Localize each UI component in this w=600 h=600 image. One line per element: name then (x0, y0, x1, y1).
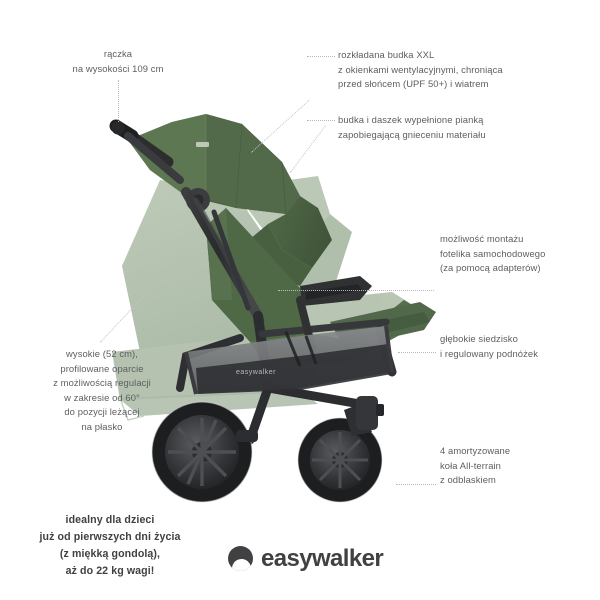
leader-line-foam (307, 120, 335, 122)
leader-line-seat (398, 352, 436, 354)
leader-line-handle (118, 80, 120, 122)
annotation-wheels: 4 amortyzowane koła All-terrain z odblas… (440, 444, 600, 488)
claim-text: idealny dla dzieci już od pierwszych dni… (10, 512, 210, 581)
easywalker-circle-icon (228, 546, 253, 571)
annotation-car-seat-adapter: możliwość montażu fotelika samochodowego… (440, 232, 600, 276)
rear-axle (236, 430, 258, 442)
leader-line-carseat (278, 290, 434, 292)
annotation-canopy-xxl: rozkładana budka XXL z okienkami wentyla… (338, 48, 588, 92)
annotation-deep-seat: głębokie siedzisko i regulowany podnóżek (440, 332, 600, 361)
annotation-foam-padding: budka i daszek wypełnione pianką zapobie… (338, 113, 588, 142)
leader-line-canopy (307, 56, 335, 58)
easywalker-dot-icon (234, 551, 242, 559)
leader-line-wheels (396, 484, 436, 486)
annotation-backrest: wysokie (52 cm), profilowane oparcie z m… (18, 347, 186, 434)
brand-logo: easywalker (228, 546, 383, 571)
annotation-handle-height: rączka na wysokości 109 cm (28, 47, 208, 76)
infographic-canvas: easywalker (0, 0, 600, 600)
svg-text:easywalker: easywalker (236, 369, 276, 376)
brand-wordmark: easywalker (261, 547, 383, 571)
